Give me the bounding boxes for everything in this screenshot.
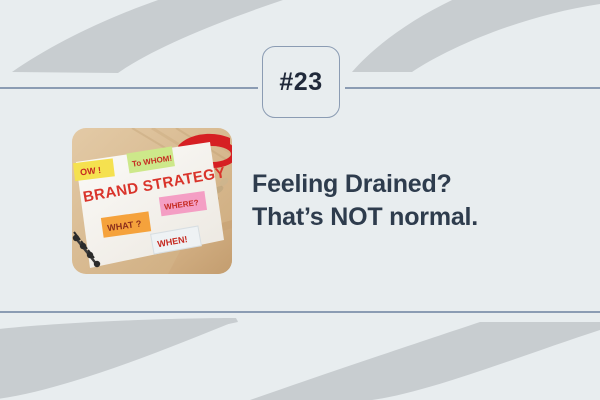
brand-strategy-photo: BRAND STRATEGY OW ! To WHOM! WHAT ? WHER…: [72, 128, 232, 274]
divider-top-left: [0, 87, 258, 89]
swoosh-bottom-right: [250, 322, 600, 400]
issue-number-badge: #23: [262, 46, 340, 118]
headline-line-1: Feeling Drained?: [252, 168, 572, 201]
headline: Feeling Drained? That’s NOT normal.: [252, 168, 572, 234]
divider-top-right: [345, 87, 600, 89]
swoosh-bottom-left-inner: [0, 320, 238, 400]
headline-line-2: That’s NOT normal.: [252, 201, 572, 234]
swoosh-bottom-left: [0, 318, 238, 400]
poster-canvas: #23: [0, 0, 600, 400]
issue-number-label: #23: [279, 70, 322, 95]
swoosh-top-right: [352, 0, 600, 72]
swoosh-top-left: [12, 0, 420, 73]
photo-illustration: BRAND STRATEGY OW ! To WHOM! WHAT ? WHER…: [72, 128, 232, 274]
divider-bottom: [0, 311, 600, 313]
